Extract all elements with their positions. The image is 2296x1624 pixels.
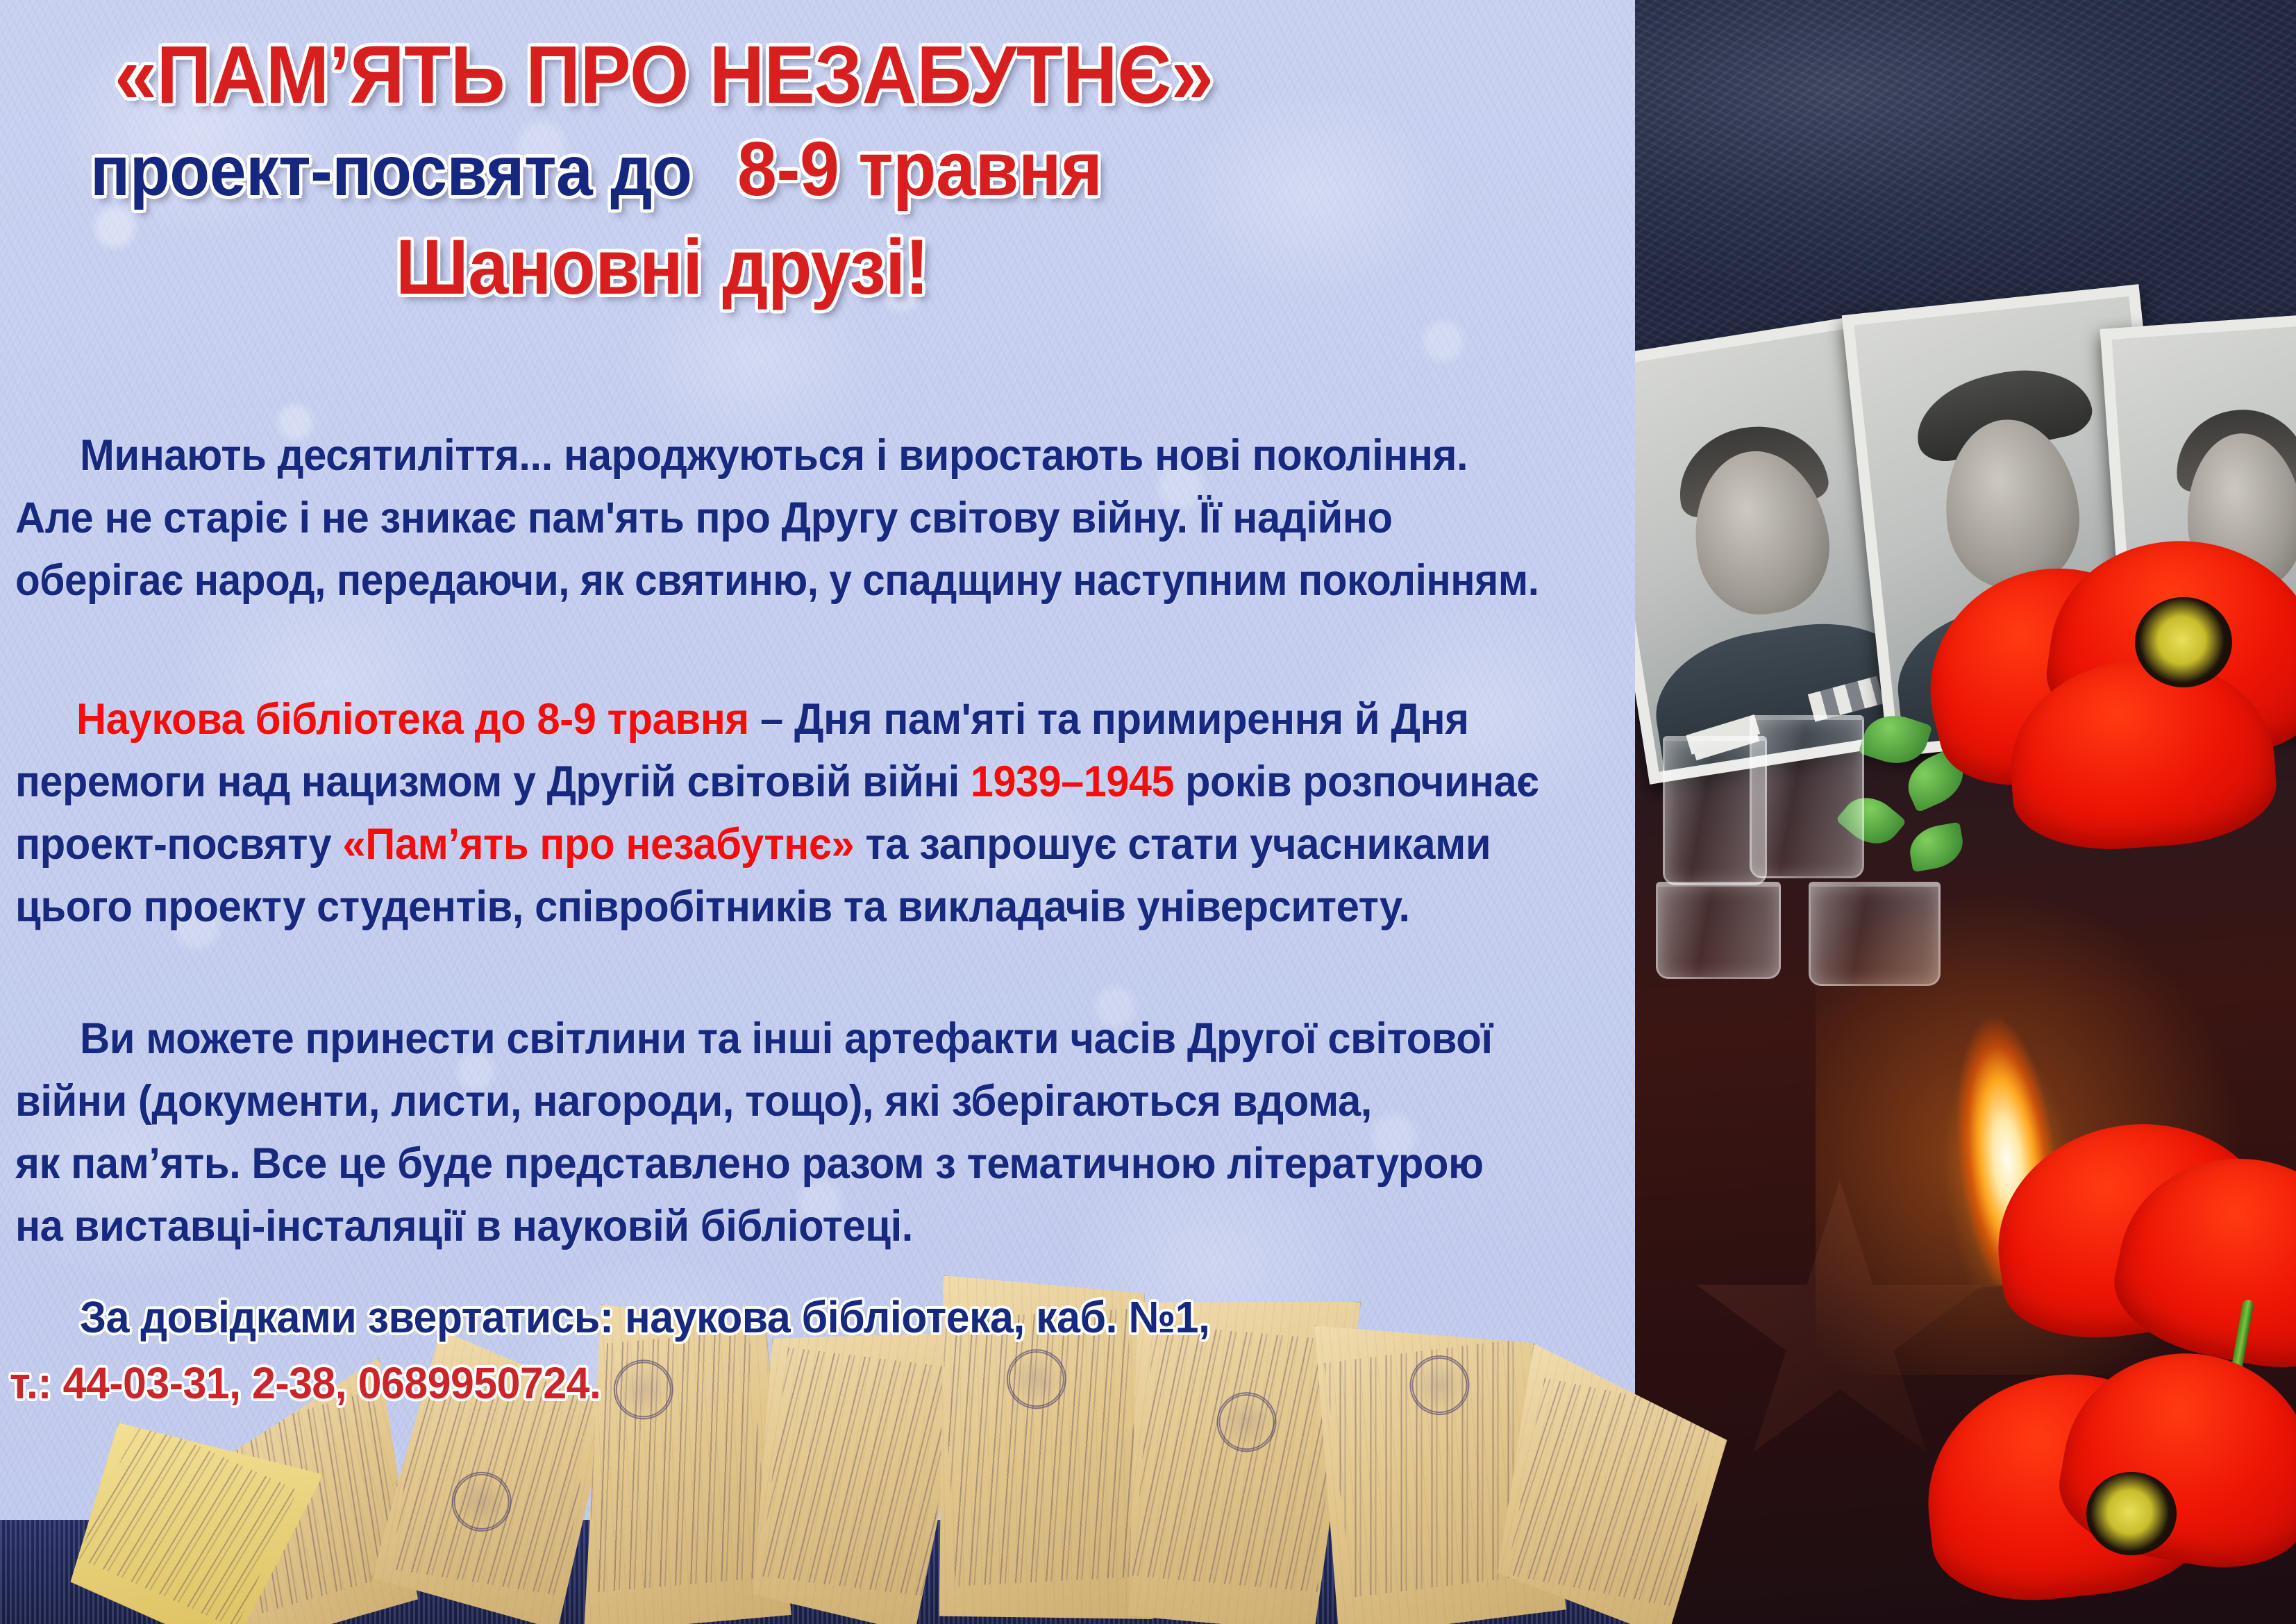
body-text: років розпочинає <box>1174 757 1539 806</box>
page-title: «ПАМ’ЯТЬ ПРО НЕЗАБУТНЄ» <box>115 28 1213 122</box>
body-text: проект-посвяту <box>15 820 342 869</box>
body-text: Ви можете принести світлини та інші арте… <box>80 1014 1493 1063</box>
subtitle-text-blue: проект-посвята до <box>90 131 692 212</box>
poster-root: «ПАМ’ЯТЬ ПРО НЕЗАБУТНЄ» проект-посвята д… <box>0 0 2296 1624</box>
body-text: як пам’ять. Все це буде представлено раз… <box>15 1139 1484 1188</box>
memorial-photo-collage <box>1635 0 2296 1624</box>
greeting-title: Шановні друзі! <box>396 222 929 312</box>
red-poppy-flower <box>1927 542 2296 847</box>
subtitle-line: проект-посвята до 8-9 травня <box>90 125 1130 213</box>
handwriting-texture <box>1132 1324 1339 1591</box>
body-line: на виставці-інсталяції в науковій бібліо… <box>15 1201 913 1251</box>
body-text: на виставці-інсталяції в науковій бібліо… <box>15 1202 913 1250</box>
handwriting-texture <box>576 1331 771 1592</box>
subtitle-date-red: 8-9 травня <box>737 125 1102 213</box>
body-line: перемоги над нацизмом у Другій світовій … <box>15 757 1539 807</box>
body-line: цього проекту студентів, співробітників … <box>15 882 1410 932</box>
body-line: проект-посвяту «Пам’ять про незабутнє» т… <box>15 819 1491 869</box>
red-poppy-flower <box>1927 1354 2296 1624</box>
body-line: Ви можете принести світлини та інші арте… <box>80 1014 1493 1064</box>
body-text: цього проекту студентів, співробітників … <box>15 882 1410 931</box>
body-line: Наукова бібліотека до 8-9 травня – Дня п… <box>76 694 1469 744</box>
body-line: Минають десятиліття... народжуються і ви… <box>80 430 1468 480</box>
body-text: оберігає народ, передаючи, як святиню, у… <box>15 556 1539 605</box>
body-text: війни (документи, листи, нагороди, тощо)… <box>15 1077 1372 1125</box>
body-line: оберігає народ, передаючи, як святиню, у… <box>15 555 1539 605</box>
poppy-core <box>2135 597 2232 687</box>
contact-line: За довідками звертатись: наукова бібліот… <box>80 1291 1209 1343</box>
body-text: Але не старіє і не зникає пам'ять про Др… <box>15 494 1393 542</box>
body-text-highlight: 1939–1945 <box>971 757 1174 806</box>
body-text: Минають десятиліття... народжуються і ви… <box>80 431 1468 480</box>
body-text: та запрошує стати учасниками <box>854 820 1491 869</box>
poppy-core <box>2086 1472 2177 1555</box>
plastic-cup-candle <box>1750 715 1864 878</box>
body-line: війни (документи, листи, нагороди, тощо)… <box>15 1076 1372 1126</box>
body-line: Але не старіє і не зникає пам'ять про Др… <box>15 493 1393 543</box>
body-text: – Дня пам'яті та примирення й Дня <box>749 695 1469 744</box>
body-text: перемоги над нацизмом у Другій світовій … <box>15 757 971 806</box>
body-line: як пам’ять. Все це буде представлено раз… <box>15 1139 1484 1189</box>
body-text-highlight: Наукова бібліотека до 8-9 травня <box>76 695 749 744</box>
handwriting-texture <box>760 1347 955 1597</box>
body-text-highlight: «Пам’ять про незабутнє» <box>342 820 854 869</box>
plastic-cup-candle <box>1656 882 1781 979</box>
phone-numbers: т.: 44-03-31, 2-38, 0689950724. <box>10 1357 601 1409</box>
